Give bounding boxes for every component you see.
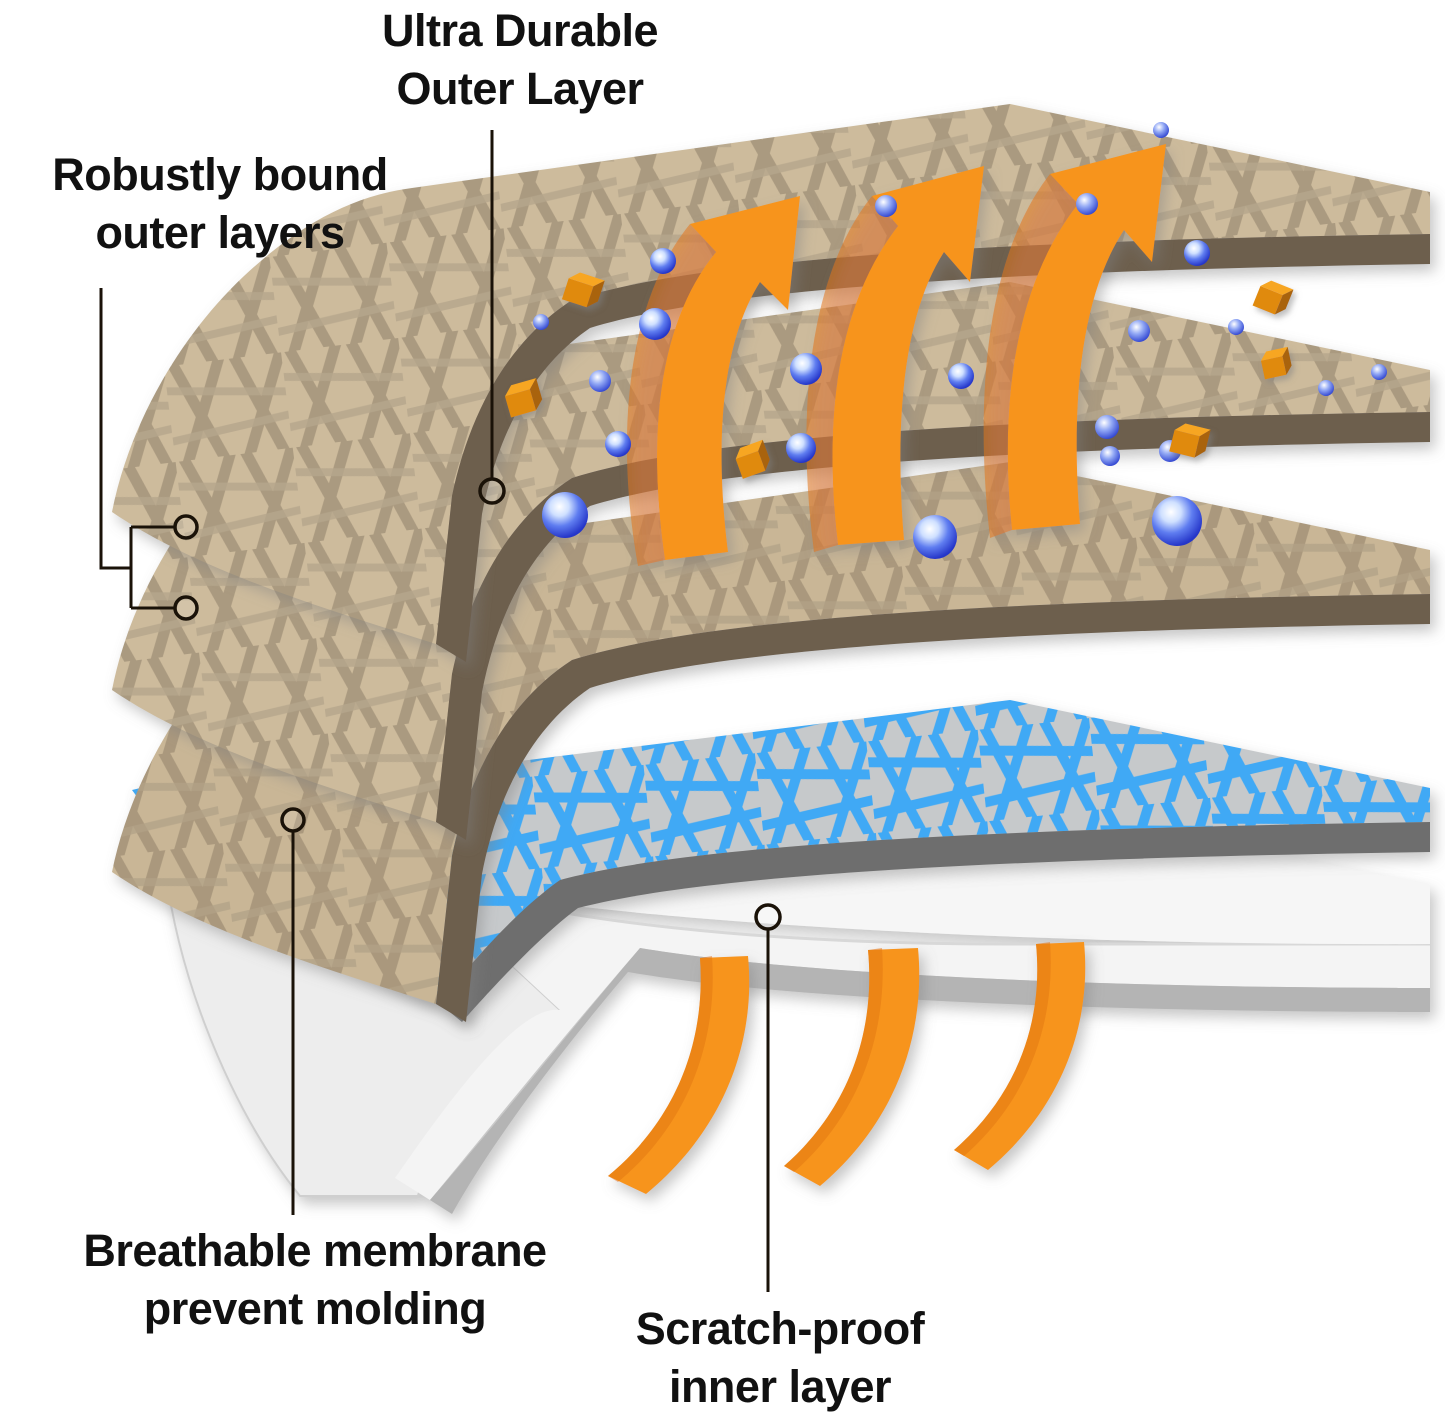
- label-breathable-membrane: Breathable membrane prevent molding: [0, 1222, 630, 1337]
- callout-marker-membrane: [282, 809, 304, 831]
- label-scratch-proof-inner-layer: Scratch-proof inner layer: [580, 1300, 980, 1415]
- callout-line-bound-layers: [101, 288, 131, 568]
- downward-arrow-1: [608, 956, 749, 1194]
- label-ultra-durable-outer-layer: Ultra Durable Outer Layer: [320, 2, 720, 117]
- dirt-cube: [1253, 278, 1294, 318]
- callout-marker-outer-layer: [480, 479, 504, 503]
- callout-marker-bound-upper: [175, 516, 197, 538]
- callout-marker-bound-lower: [175, 597, 197, 619]
- label-robustly-bound-outer-layers: Robustly bound outer layers: [0, 146, 440, 261]
- diagram-canvas: Ultra Durable Outer Layer Robustly bound…: [0, 0, 1445, 1421]
- callout-marker-inner-layer: [756, 905, 780, 929]
